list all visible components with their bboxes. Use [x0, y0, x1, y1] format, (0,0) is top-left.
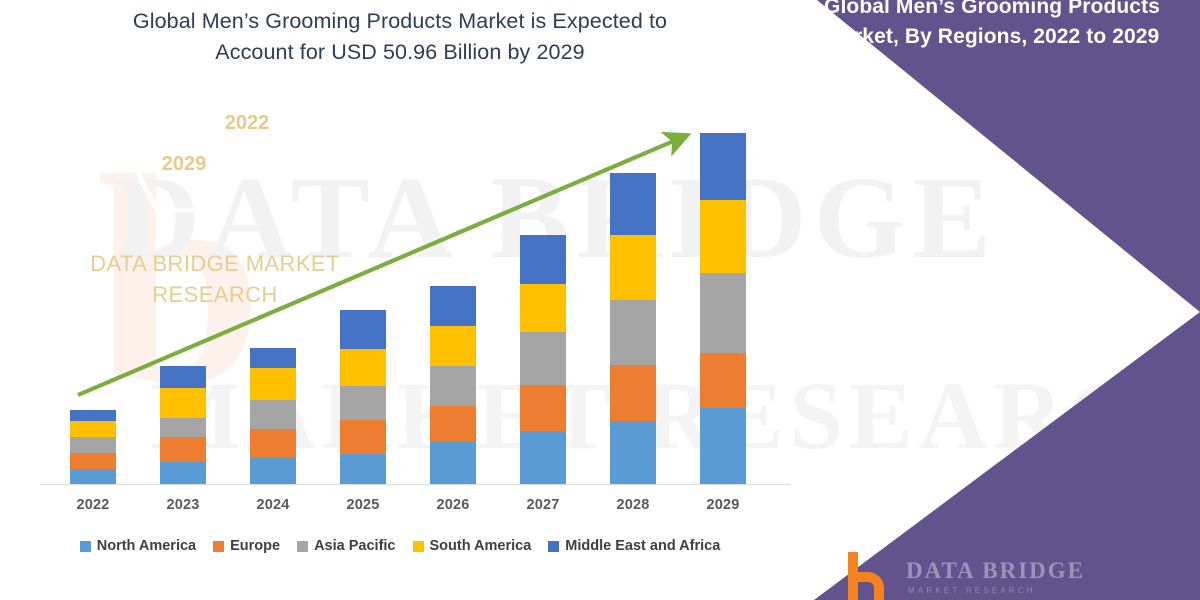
- bar-segment-north-america: [160, 462, 206, 484]
- legend-item-north-america[interactable]: North America: [80, 538, 196, 554]
- legend-label: Middle East and Africa: [565, 538, 720, 554]
- panel-title: Global Men’s Grooming Products Market, B…: [792, 0, 1192, 52]
- chart-title-line-2: Account for USD 50.96 Billion by 2029: [215, 40, 584, 64]
- logo-arch-icon: [840, 548, 898, 600]
- bar-2026: [430, 286, 476, 484]
- brand-line-1: DATA BRIDGE MARKET: [90, 251, 340, 276]
- bar-segment-south-america: [700, 200, 746, 273]
- hexagon-badge-2022: 2022: [196, 76, 298, 170]
- bar-segment-middle-east-and-africa: [610, 173, 656, 235]
- bar-2029: [700, 133, 746, 484]
- bar-segment-middle-east-and-africa: [160, 366, 206, 388]
- x-axis-label-2025: 2025: [323, 497, 403, 513]
- bar-segment-middle-east-and-africa: [340, 310, 386, 349]
- legend-swatch: [297, 541, 308, 552]
- bar-segment-middle-east-and-africa: [250, 348, 296, 368]
- bar-segment-asia-pacific: [520, 332, 566, 385]
- bar-segment-north-america: [610, 421, 656, 484]
- hexagon-badges: 2029 2022: [0, 86, 430, 216]
- bar-segment-europe: [250, 429, 296, 458]
- legend-label: South America: [430, 538, 532, 554]
- bar-segment-south-america: [610, 235, 656, 300]
- hexagon-badge-2022-label: 2022: [225, 112, 270, 135]
- bar-segment-asia-pacific: [160, 418, 206, 437]
- chart-title: Global Men’s Grooming Products Market is…: [60, 6, 740, 68]
- chart-legend: North AmericaEuropeAsia PacificSouth Ame…: [0, 538, 800, 554]
- legend-swatch: [413, 541, 424, 552]
- bar-segment-north-america: [250, 458, 296, 484]
- bar-segment-europe: [340, 420, 386, 454]
- bar-segment-north-america: [520, 431, 566, 484]
- legend-label: Europe: [230, 538, 280, 554]
- bar-2028: [610, 173, 656, 484]
- bar-segment-north-america: [70, 469, 116, 484]
- bar-segment-south-america: [520, 284, 566, 332]
- x-axis-label-2022: 2022: [53, 497, 133, 513]
- bar-segment-middle-east-and-africa: [70, 410, 116, 421]
- bar-segment-europe: [610, 365, 656, 421]
- chart-title-line-1: Global Men’s Grooming Products Market is…: [133, 9, 667, 33]
- x-axis-label-2029: 2029: [683, 497, 763, 513]
- hexagon-badge-2029-label: 2029: [162, 153, 207, 176]
- panel-title-line-2: Market, By Regions, 2022 to 2029: [825, 25, 1160, 48]
- legend-item-middle-east-and-africa[interactable]: Middle East and Africa: [548, 538, 720, 554]
- bar-segment-europe: [70, 453, 116, 469]
- x-axis-label-2027: 2027: [503, 497, 583, 513]
- bar-segment-south-america: [160, 388, 206, 418]
- bar-segment-middle-east-and-africa: [520, 235, 566, 284]
- logo-wordmark: DATA BRIDGE: [906, 558, 1085, 584]
- bar-segment-asia-pacific: [340, 386, 386, 420]
- bar-segment-asia-pacific: [250, 400, 296, 429]
- bar-segment-europe: [700, 353, 746, 408]
- legend-item-asia-pacific[interactable]: Asia Pacific: [297, 538, 395, 554]
- bar-segment-asia-pacific: [700, 273, 746, 353]
- bar-2024: [250, 348, 296, 484]
- legend-label: Asia Pacific: [314, 538, 395, 554]
- bar-segment-south-america: [430, 326, 476, 366]
- bar-segment-europe: [160, 437, 206, 462]
- bar-segment-north-america: [700, 408, 746, 484]
- data-bridge-logo: DATA BRIDGE MARKET RESEARCH: [840, 548, 1200, 600]
- bar-2025: [340, 310, 386, 484]
- x-axis-label-2028: 2028: [593, 497, 673, 513]
- x-axis-label-2026: 2026: [413, 497, 493, 513]
- bar-segment-north-america: [340, 454, 386, 484]
- legend-label: North America: [97, 538, 196, 554]
- bar-segment-south-america: [340, 349, 386, 386]
- legend-swatch: [80, 541, 91, 552]
- bar-2027: [520, 235, 566, 484]
- legend-swatch: [213, 541, 224, 552]
- legend-swatch: [548, 541, 559, 552]
- bar-2022: [70, 410, 116, 484]
- legend-item-south-america[interactable]: South America: [413, 538, 532, 554]
- bar-segment-middle-east-and-africa: [700, 133, 746, 200]
- logo-tagline: MARKET RESEARCH: [908, 586, 1036, 595]
- infographic-canvas: b DATA BRIDGE MARKET RESEARCH Global Men…: [0, 0, 1200, 600]
- bar-segment-asia-pacific: [430, 366, 476, 406]
- right-brand-panel: [770, 0, 1200, 600]
- panel-title-line-1: Global Men’s Grooming Products: [792, 0, 1192, 22]
- legend-item-europe[interactable]: Europe: [213, 538, 280, 554]
- bar-segment-south-america: [250, 368, 296, 400]
- bar-2023: [160, 366, 206, 484]
- brand-name: DATA BRIDGE MARKET RESEARCH: [0, 248, 430, 310]
- bar-segment-asia-pacific: [70, 437, 116, 453]
- x-axis-line: [40, 484, 790, 485]
- bar-segment-middle-east-and-africa: [430, 286, 476, 326]
- x-axis-label-2023: 2023: [143, 497, 223, 513]
- bar-segment-europe: [520, 385, 566, 432]
- bar-segment-south-america: [70, 421, 116, 437]
- bar-segment-asia-pacific: [610, 300, 656, 365]
- bar-segment-europe: [430, 406, 476, 443]
- x-axis-label-2024: 2024: [233, 497, 313, 513]
- bar-segment-north-america: [430, 442, 476, 484]
- brand-line-2: RESEARCH: [152, 282, 277, 307]
